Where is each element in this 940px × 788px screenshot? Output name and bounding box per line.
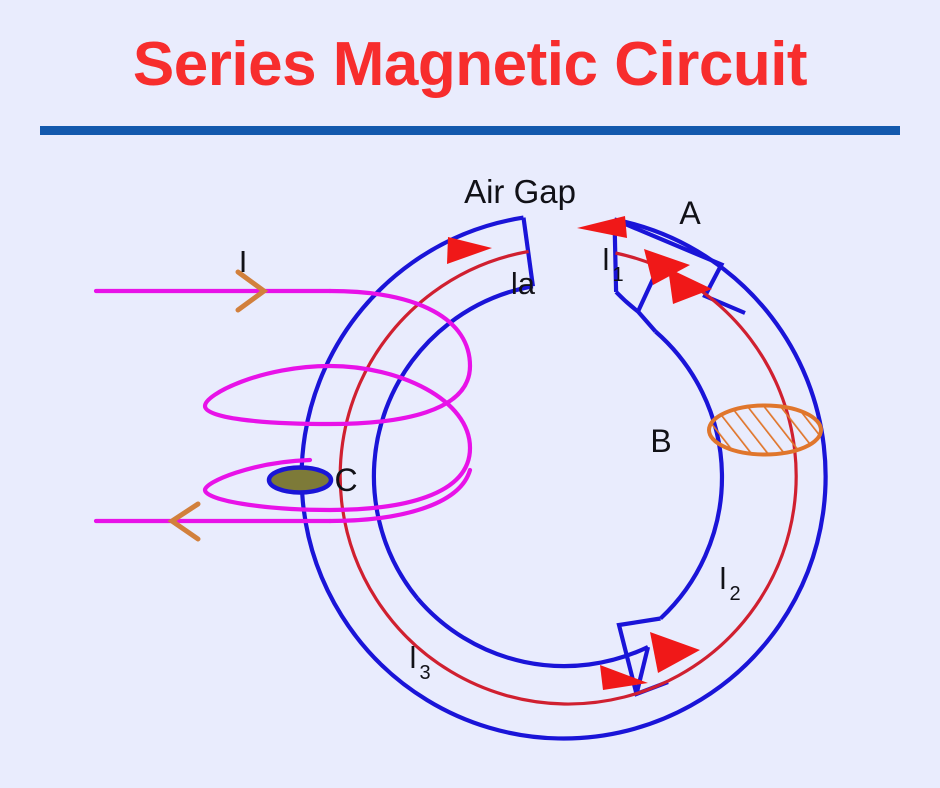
flux-arc-main — [340, 252, 796, 705]
core-inner-arc-right-lower — [656, 332, 722, 619]
series-magnetic-circuit-diagram: Air Gap A B C I la l 1 l 2 l 3 — [0, 0, 940, 788]
label-length-2: l 2 — [720, 561, 741, 605]
solid-cross-section-c — [269, 468, 331, 493]
label-length-air-gap: la — [511, 266, 536, 301]
label-length-3-sub: 3 — [419, 662, 430, 684]
core-inner-arc-right — [616, 292, 638, 312]
flux-arrow-top-left — [447, 237, 492, 264]
flux-path — [340, 252, 796, 705]
core-inner-arc-bottom — [417, 598, 648, 666]
flux-arrow-a-2 — [668, 268, 712, 304]
core-joint-bottom-inner — [637, 647, 649, 694]
label-length-2-sub: 2 — [729, 583, 740, 605]
label-length-3-base: l — [410, 640, 417, 675]
label-section-b: B — [650, 423, 671, 459]
label-length-1-sub: 1 — [612, 264, 623, 286]
page-root: Series Magnetic Circuit — [0, 0, 940, 788]
label-current-i: I — [239, 244, 248, 279]
label-length-1-base: l — [603, 242, 610, 277]
core-inner-arc-left — [374, 286, 533, 598]
label-length-3: l 3 — [410, 640, 431, 684]
core-joint-right-inner — [638, 312, 656, 332]
label-section-a: A — [679, 195, 701, 231]
label-length-2-base: l — [720, 561, 727, 596]
label-section-c: C — [334, 462, 357, 498]
flux-arrowheads — [447, 216, 712, 690]
core-joint-right-stub — [638, 277, 654, 312]
flux-arrow-gap-right — [577, 216, 627, 238]
label-air-gap: Air Gap — [464, 173, 576, 210]
